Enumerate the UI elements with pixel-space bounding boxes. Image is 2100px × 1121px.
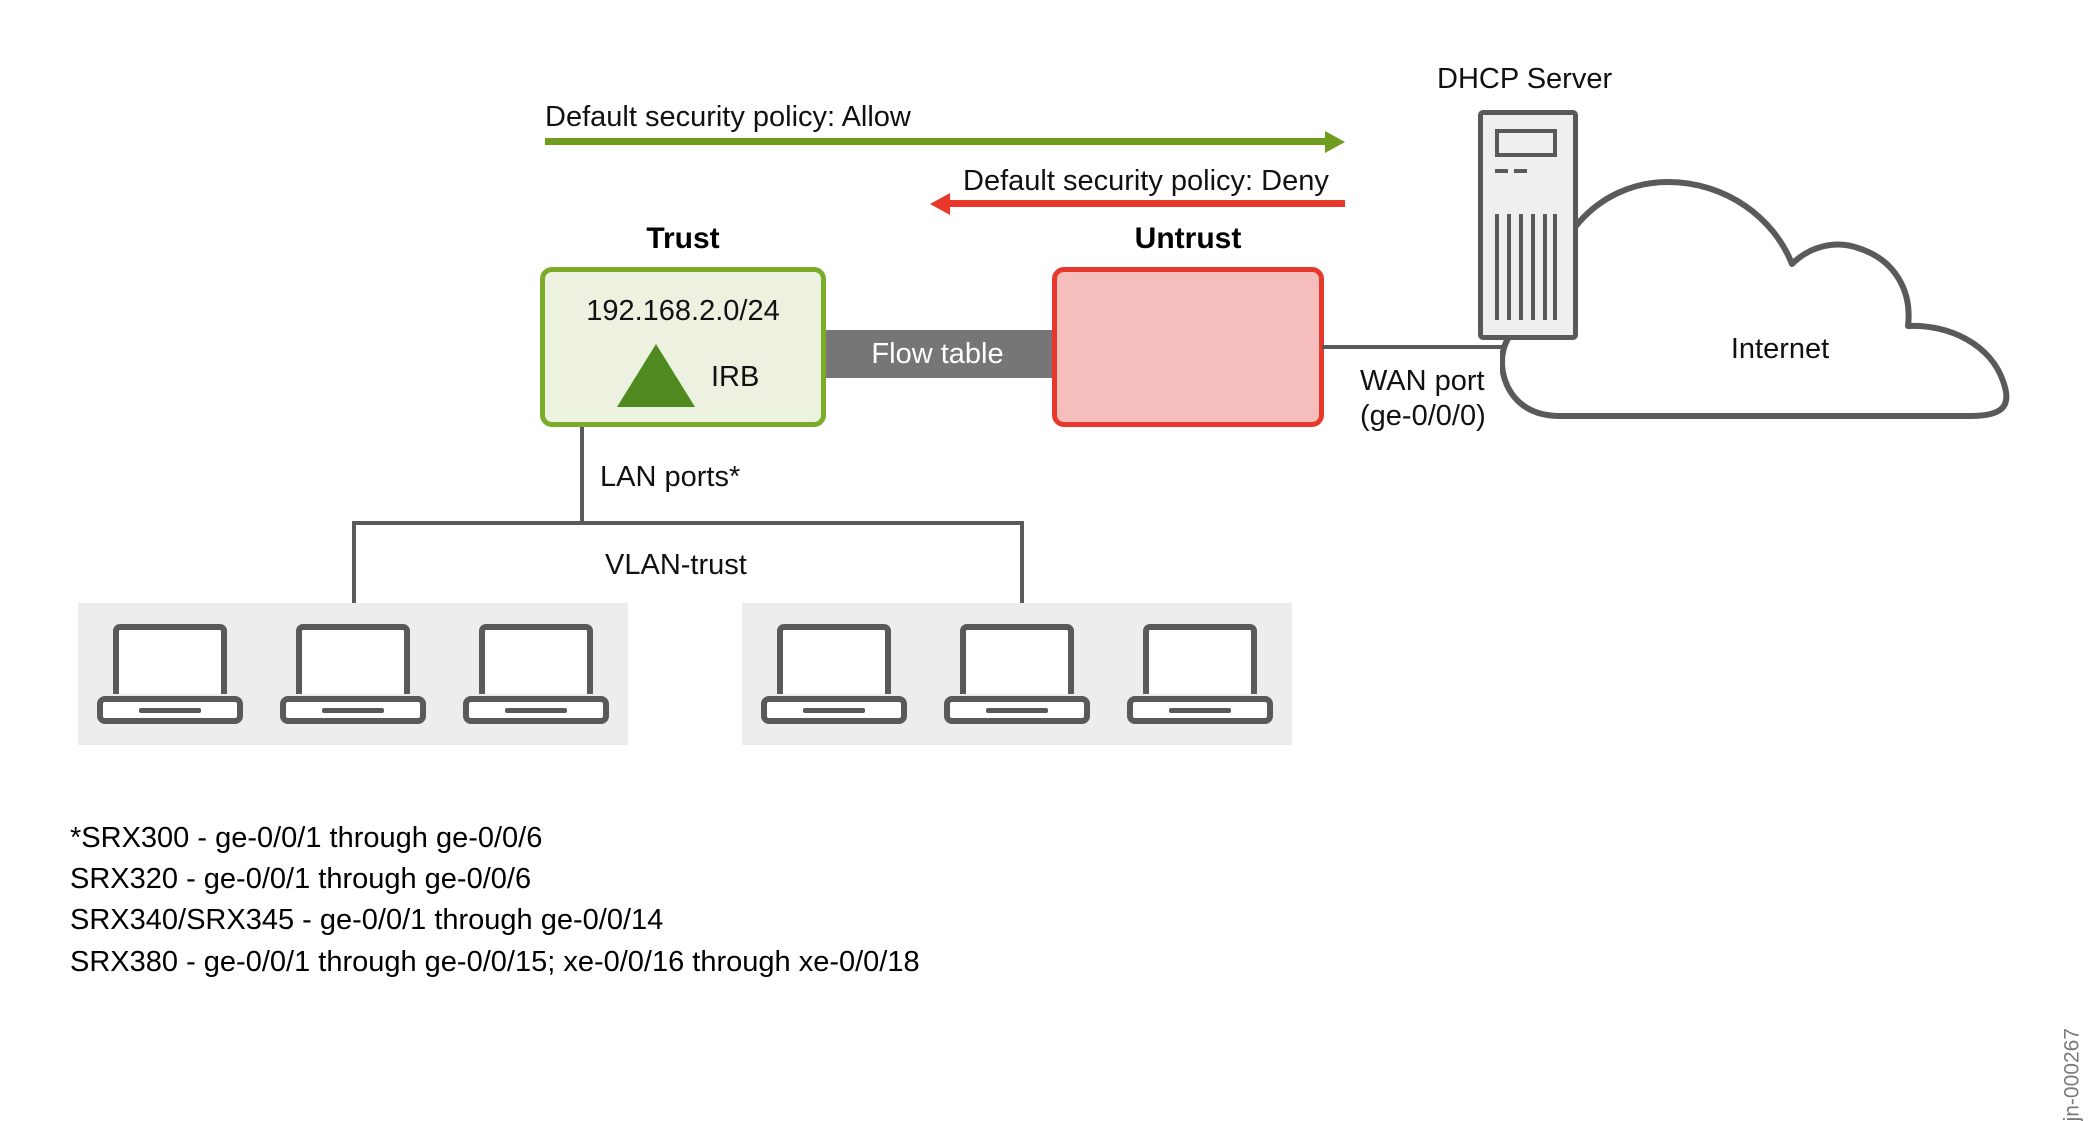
vlan-right-drop-wire (1020, 521, 1024, 609)
footnote-line: SRX320 - ge-0/0/1 through ge-0/0/6 (70, 859, 920, 900)
laptop-icon (761, 624, 907, 724)
lan-ports-label: LAN ports* (600, 460, 740, 494)
wan-port-label-line1: WAN port (1360, 364, 1486, 399)
diagram-id-watermark: jn-000267 (2060, 1028, 2084, 1121)
trust-zone-heading: Trust (540, 222, 826, 256)
laptop-trackpad (803, 708, 865, 713)
laptop-trackpad (322, 708, 384, 713)
server-vents (1495, 214, 1557, 320)
server-indicator-1 (1495, 169, 1508, 173)
footnote-line: *SRX300 - ge-0/0/1 through ge-0/0/6 (70, 818, 920, 859)
trust-zone-box[interactable]: 192.168.2.0/24 IRB (540, 267, 826, 427)
allow-policy-label: Default security policy: Allow (545, 100, 911, 134)
vlan-left-drop-wire (352, 521, 356, 609)
deny-arrow-head-icon (930, 193, 950, 215)
lan-laptop-group-left (78, 603, 628, 745)
laptop-icon (280, 624, 426, 724)
laptop-screen (960, 624, 1074, 694)
allow-policy-arrow (545, 138, 1345, 145)
internet-label: Internet (1500, 332, 2060, 366)
laptop-screen (777, 624, 891, 694)
laptop-trackpad (1169, 708, 1231, 713)
flow-table-bar: Flow table (800, 330, 1075, 378)
deny-policy-arrow (930, 200, 1345, 207)
wan-port-label: WAN port (ge-0/0/0) (1360, 364, 1486, 434)
trust-subnet-label: 192.168.2.0/24 (545, 294, 821, 328)
footnote-line: SRX340/SRX345 - ge-0/0/1 through ge-0/0/… (70, 900, 920, 941)
server-drive-bay (1495, 129, 1557, 157)
deny-policy-label: Default security policy: Deny (963, 164, 1329, 198)
internet-cloud-icon (1500, 140, 2060, 430)
vlan-trust-label: VLAN-trust (605, 548, 747, 582)
laptop-icon (97, 624, 243, 724)
irb-triangle-icon (617, 344, 695, 407)
footnotes-block: *SRX300 - ge-0/0/1 through ge-0/0/6 SRX3… (70, 818, 920, 983)
laptop-icon (1127, 624, 1273, 724)
laptop-screen (296, 624, 410, 694)
laptop-trackpad (505, 708, 567, 713)
laptop-trackpad (139, 708, 201, 713)
laptop-screen (479, 624, 593, 694)
dhcp-server-icon (1478, 110, 1578, 340)
laptop-icon (463, 624, 609, 724)
dhcp-server-label: DHCP Server (1437, 62, 1612, 96)
untrust-zone-box[interactable] (1052, 267, 1324, 427)
irb-label: IRB (711, 360, 759, 394)
allow-arrow-head-icon (1325, 131, 1345, 153)
laptop-icon (944, 624, 1090, 724)
laptop-screen (113, 624, 227, 694)
server-indicator-2 (1514, 169, 1527, 173)
laptop-screen (1143, 624, 1257, 694)
laptop-trackpad (986, 708, 1048, 713)
footnote-line: SRX380 - ge-0/0/1 through ge-0/0/15; xe-… (70, 942, 920, 983)
untrust-to-wan-wire (1322, 345, 1522, 349)
allow-arrow-shaft (545, 138, 1328, 145)
trust-to-lan-wire (580, 427, 584, 522)
wan-port-label-line2: (ge-0/0/0) (1360, 399, 1486, 434)
flow-table-label: Flow table (800, 330, 1075, 378)
untrust-zone-heading: Untrust (1052, 222, 1324, 256)
lan-laptop-group-right (742, 603, 1292, 745)
deny-arrow-shaft (947, 200, 1345, 207)
vlan-bus-wire (352, 521, 1024, 525)
